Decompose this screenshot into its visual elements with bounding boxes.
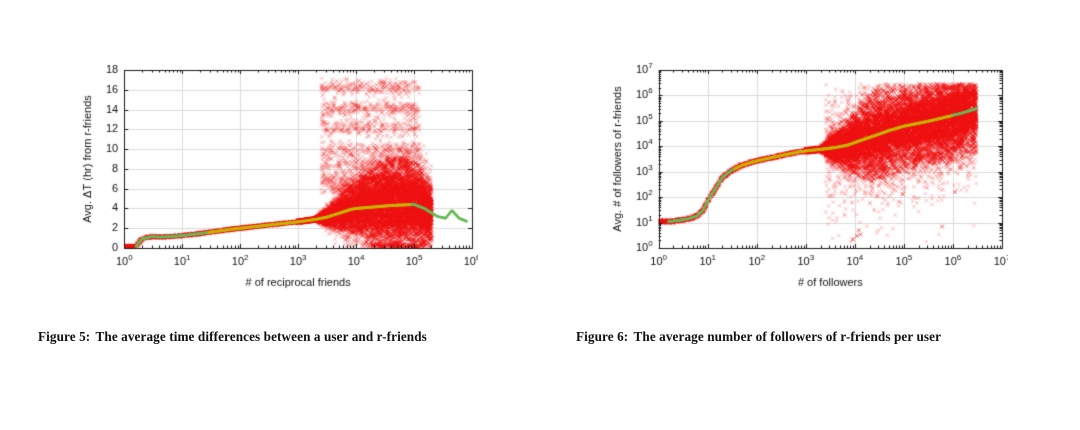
figure-6-caption-text: The average number of followers of r-fri… <box>633 329 941 344</box>
chart-followers-plot <box>608 62 1008 292</box>
chart-reciprocal-friends-plot <box>78 62 478 292</box>
figure-5-block: Figure 5: The average time differences b… <box>0 0 540 430</box>
figure-6-block: Figure 6: The average number of follower… <box>540 0 1080 430</box>
figure-5-label: Figure 5: <box>38 329 90 344</box>
figure-6-caption: Figure 6: The average number of follower… <box>576 328 1076 346</box>
scatter-plot-reciprocal-friends <box>78 62 478 292</box>
figure-5-caption-text: The average time differences between a u… <box>95 329 426 344</box>
figure-5-caption: Figure 5: The average time differences b… <box>38 328 500 346</box>
scatter-plot-followers <box>608 62 1008 292</box>
figure-6-label: Figure 6: <box>576 329 628 344</box>
figure-page: Figure 5: The average time differences b… <box>0 0 1080 430</box>
